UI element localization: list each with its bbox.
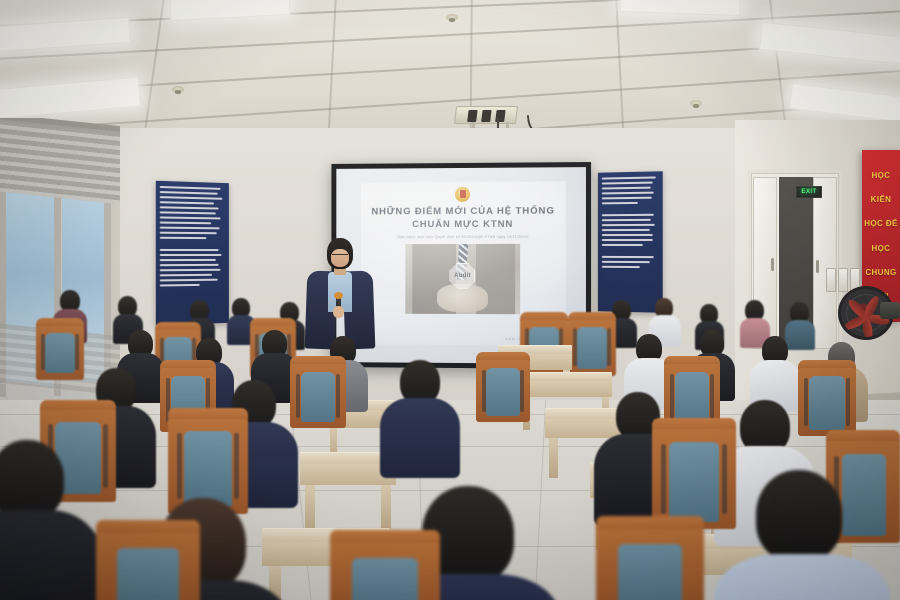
smoke-detector-icon xyxy=(690,100,702,107)
ceiling-light-panel xyxy=(170,0,291,21)
slide-title-line2: CHUẨN MỰC KTNN xyxy=(371,218,554,232)
eyeglasses-icon xyxy=(332,254,348,258)
slide-photo: Audit xyxy=(405,244,520,314)
exit-sign-label: EXIT xyxy=(801,189,816,195)
conference-room-scene: HỌC KIỂN HỌC ĐỂ HỌC CHUNG VỚI EXIT xyxy=(0,0,900,600)
state-audit-emblem-icon xyxy=(455,187,470,202)
fan-motor xyxy=(880,302,900,319)
light-switch[interactable] xyxy=(826,268,836,292)
smoke-detector-icon xyxy=(446,14,458,21)
door-leaf-right[interactable] xyxy=(813,177,837,349)
chair xyxy=(798,360,856,438)
pedestal-fan[interactable] xyxy=(838,286,900,340)
banner-word: CHUNG xyxy=(865,268,896,277)
chair xyxy=(476,352,530,424)
door-handle-icon[interactable] xyxy=(771,258,774,271)
ceiling-light-panel xyxy=(0,17,131,53)
chair xyxy=(36,318,84,380)
banner-word: HỌC xyxy=(872,244,891,253)
chair xyxy=(596,516,704,600)
chair xyxy=(330,530,440,600)
chair xyxy=(290,356,346,430)
smoke-detector-icon xyxy=(172,86,184,93)
chair xyxy=(96,520,200,600)
ceiling-light-panel xyxy=(759,22,900,67)
presenter-hand xyxy=(333,306,344,318)
exit-sign: EXIT xyxy=(796,186,822,198)
slide-title-line1: NHỮNG ĐIỂM MỚI CỦA HỆ THỐNG xyxy=(371,204,554,218)
chair xyxy=(652,418,736,532)
ceiling-light-panel xyxy=(620,0,741,16)
presenter-head xyxy=(327,238,353,269)
microphone-head-icon xyxy=(334,292,343,299)
slide-title: NHỮNG ĐIỂM MỚI CỦA HỆ THỐNG CHUẨN MỰC KT… xyxy=(371,204,554,232)
door-handle-icon[interactable] xyxy=(816,260,819,273)
banner-word: KIỂN xyxy=(871,195,892,204)
chair xyxy=(568,312,616,376)
wall-poster-right xyxy=(598,171,663,312)
ceiling-light-panel xyxy=(0,77,141,122)
window-blinds[interactable] xyxy=(0,119,120,205)
presenter-face xyxy=(331,249,349,267)
banner-word: HỌC xyxy=(872,171,891,180)
slide-subtitle: (Ban hành kèm theo Quyết định số 06/2024… xyxy=(397,235,528,239)
banner-word: HỌC ĐỂ xyxy=(864,219,898,228)
